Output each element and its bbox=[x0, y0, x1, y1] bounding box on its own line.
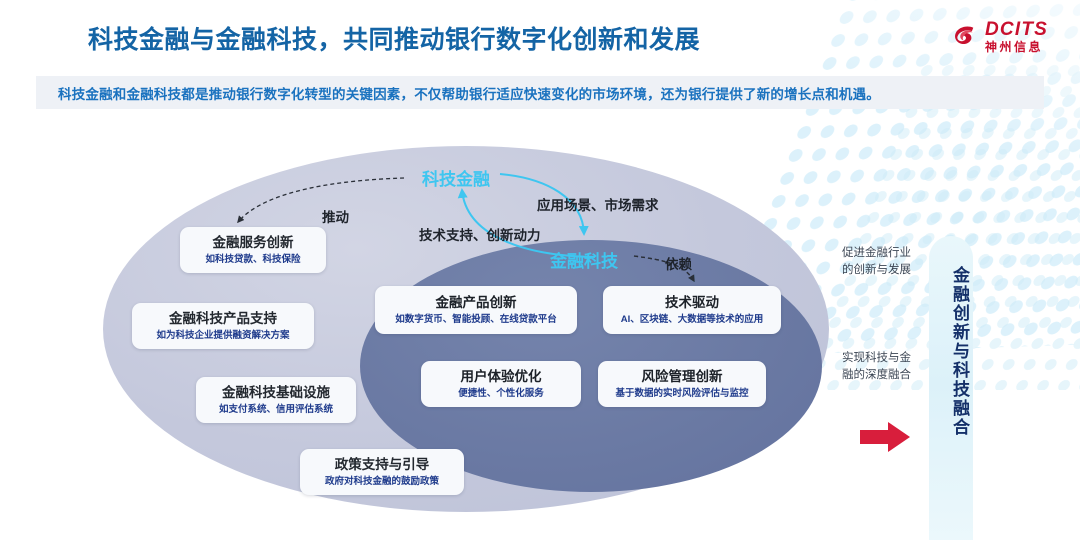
card-title: 金融服务创新 bbox=[213, 235, 294, 252]
right-note-deep-integration: 实现科技与金 融的深度融合 bbox=[842, 350, 911, 383]
slide-canvas: 科技金融与金融科技，共同推动银行数字化创新和发展 DCITS 神州信息 科技金融… bbox=[0, 0, 1080, 540]
card-fintech-infrastructure[interactable]: 金融科技基础设施 如支付系统、信用评估系统 bbox=[196, 377, 356, 423]
card-subtitle: 如数字货币、智能投顾、在线贷款平台 bbox=[395, 314, 557, 325]
card-title: 金融科技产品支持 bbox=[169, 311, 277, 328]
card-title: 金融产品创新 bbox=[436, 295, 517, 312]
card-fintech-product-support[interactable]: 金融科技产品支持 如为科技企业提供融资解决方案 bbox=[132, 303, 314, 349]
relation-label-tuidong: 推动 bbox=[322, 206, 349, 226]
brand-logo: DCITS 神州信息 bbox=[951, 20, 1048, 53]
card-title: 用户体验优化 bbox=[461, 369, 542, 386]
logo-wordmark-cn: 神州信息 bbox=[985, 41, 1048, 53]
card-risk-management-innovation[interactable]: 风险管理创新 基于数据的实时风险评估与监控 bbox=[598, 361, 766, 407]
vertical-headline-text: 金融创新与科技融合 bbox=[934, 266, 968, 437]
diagram-stage: 科技金融 金融科技 推动 技术支持、创新动力 应用场景、市场需求 依赖 金融服务… bbox=[0, 118, 1080, 540]
card-title: 金融科技基础设施 bbox=[222, 385, 330, 402]
page-title: 科技金融与金融科技，共同推动银行数字化创新和发展 bbox=[88, 20, 700, 56]
card-financial-product-innovation[interactable]: 金融产品创新 如数字货币、智能投顾、在线贷款平台 bbox=[375, 286, 577, 334]
right-arrow-icon bbox=[858, 420, 912, 454]
dcits-swirl-icon bbox=[951, 23, 978, 50]
card-subtitle: 如科技贷款、科技保险 bbox=[205, 254, 300, 265]
card-subtitle: 如支付系统、信用评估系统 bbox=[219, 404, 333, 415]
card-subtitle: AI、区块链、大数据等技术的应用 bbox=[621, 314, 764, 325]
card-policy-support[interactable]: 政策支持与引导 政府对科技金融的鼓励政策 bbox=[300, 449, 464, 495]
right-note-promote-innovation: 促进金融行业 的创新与发展 bbox=[842, 245, 911, 278]
label-jinrong-keji: 金融科技 bbox=[550, 247, 618, 272]
relation-label-yilai: 依赖 bbox=[665, 253, 692, 273]
card-title: 风险管理创新 bbox=[642, 369, 723, 386]
card-subtitle: 便捷性、个性化服务 bbox=[458, 388, 544, 399]
relation-label-tech-support: 技术支持、创新动力 bbox=[419, 224, 541, 244]
subtitle-text: 科技金融和金融科技都是推动银行数字化转型的关键因素，不仅帮助银行适应快速变化的市… bbox=[58, 83, 880, 103]
relation-label-scene-demand: 应用场景、市场需求 bbox=[537, 194, 659, 214]
logo-wordmark-en: DCITS bbox=[985, 20, 1048, 39]
card-user-experience-optimization[interactable]: 用户体验优化 便捷性、个性化服务 bbox=[421, 361, 581, 407]
card-subtitle: 如为科技企业提供融资解决方案 bbox=[156, 330, 289, 341]
card-financial-service-innovation[interactable]: 金融服务创新 如科技贷款、科技保险 bbox=[180, 227, 326, 273]
card-subtitle: 基于数据的实时风险评估与监控 bbox=[615, 388, 748, 399]
card-title: 政策支持与引导 bbox=[335, 457, 430, 474]
subtitle-banner: 科技金融和金融科技都是推动银行数字化转型的关键因素，不仅帮助银行适应快速变化的市… bbox=[36, 76, 1044, 109]
label-keji-jinrong: 科技金融 bbox=[422, 165, 490, 190]
card-technology-driven[interactable]: 技术驱动 AI、区块链、大数据等技术的应用 bbox=[603, 286, 781, 334]
card-title: 技术驱动 bbox=[665, 295, 719, 312]
card-subtitle: 政府对科技金融的鼓励政策 bbox=[325, 476, 439, 487]
